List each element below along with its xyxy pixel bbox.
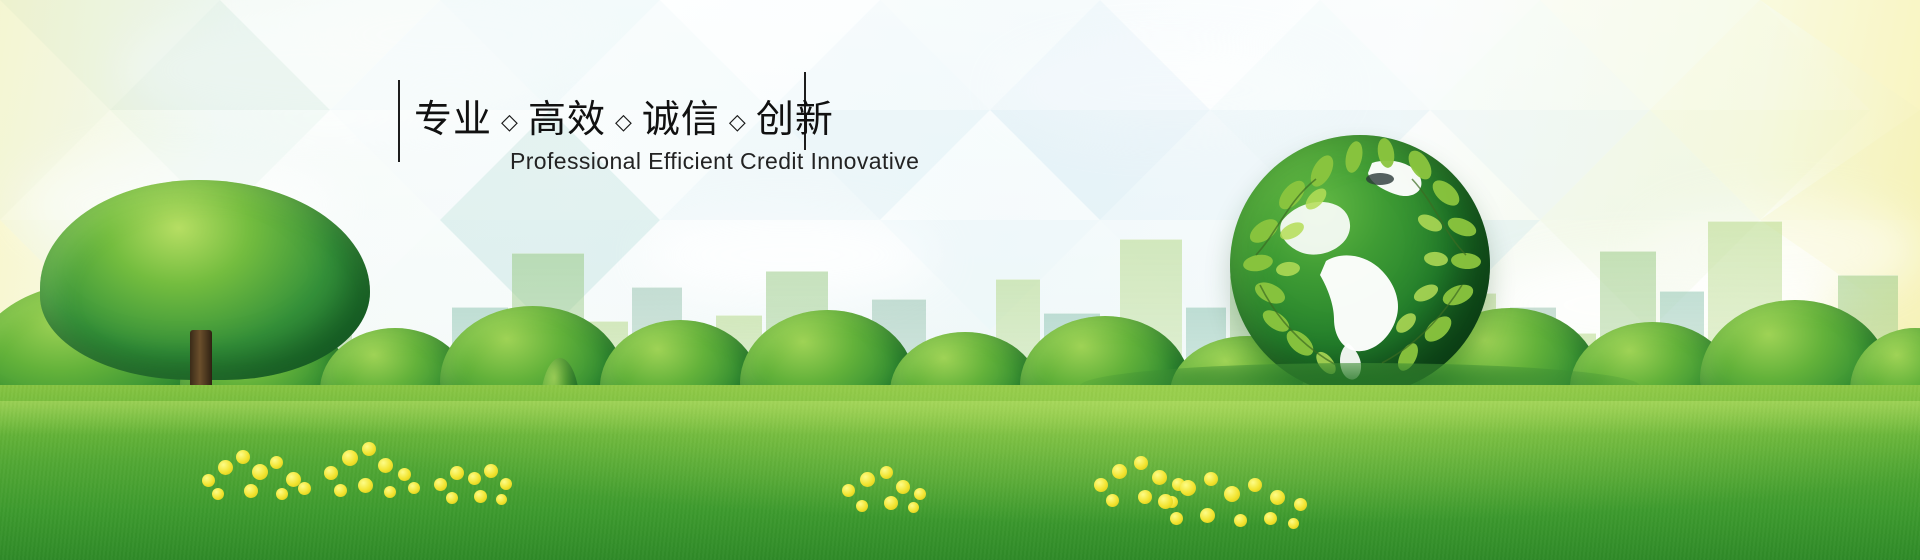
slogan-headline: 专业◇高效◇诚信◇创新 [412,100,836,138]
slogan-subline: Professional Efficient Credit Innovative [510,148,919,175]
slogan-word-4: 创新 [754,97,836,141]
slogan-separator-icon: ◇ [494,110,526,135]
grass-highlight-band [0,401,1920,435]
left-vertical-rule [398,80,400,162]
globe-sphere [1230,135,1490,395]
slogan-word-3: 诚信 [640,97,722,141]
slogan-text-block: 专业◇高效◇诚信◇创新 Professional Efficient Credi… [398,72,898,182]
slogan-word-1: 专业 [412,97,494,141]
meadow-grass [0,385,1920,560]
slogan-separator-icon: ◇ [722,110,754,135]
globe-continents [1230,135,1490,395]
slogan-separator-icon: ◇ [608,110,640,135]
large-leafy-tree [40,180,370,410]
eco-banner: 专业◇高效◇诚信◇创新 Professional Efficient Credi… [0,0,1920,560]
slogan-word-2: 高效 [526,97,608,141]
green-earth-globe [1230,135,1490,395]
